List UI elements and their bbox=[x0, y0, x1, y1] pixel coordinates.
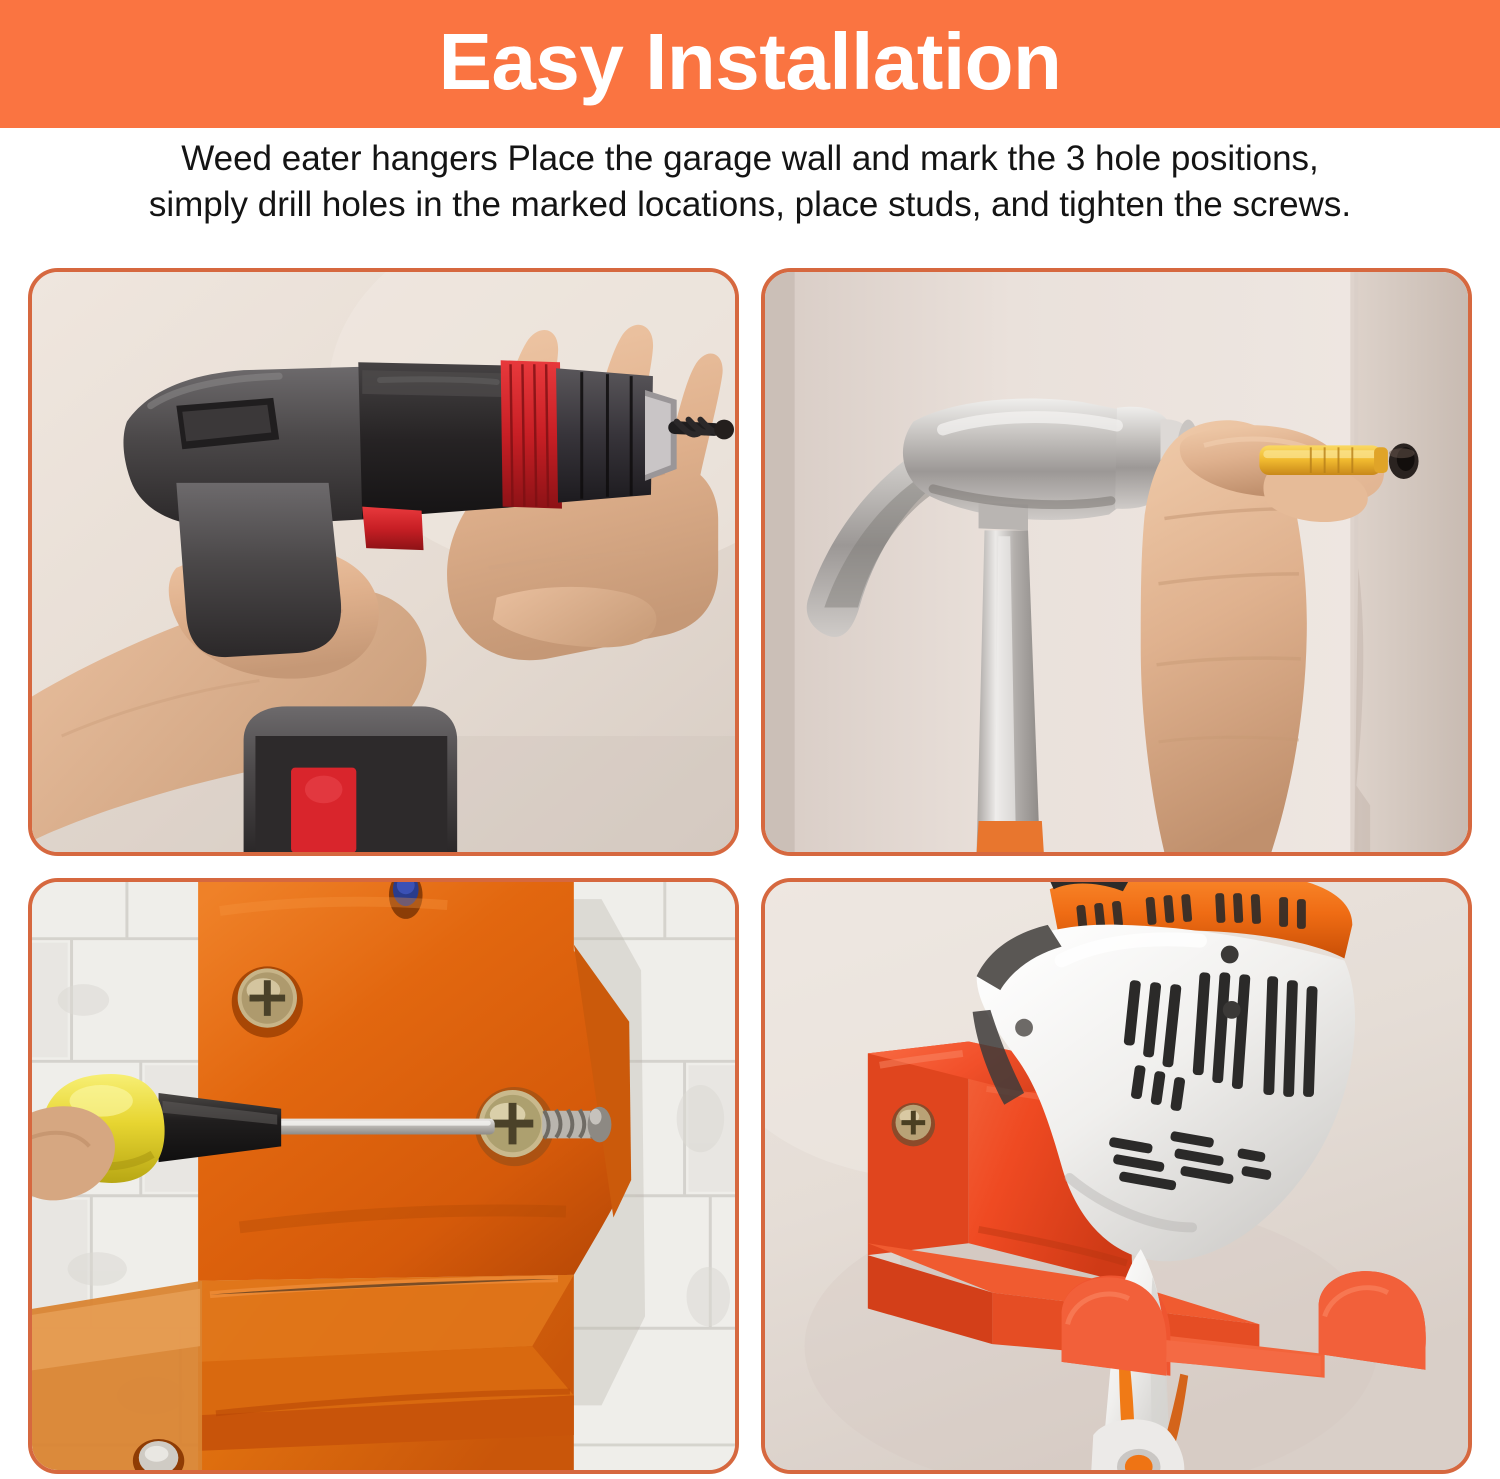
screw-thread bbox=[542, 1107, 611, 1143]
description-line-2: simply drill holes in the marked locatio… bbox=[30, 182, 1470, 228]
trimmer-on-hanger-illustration bbox=[765, 882, 1468, 1470]
step-photo-hammer-anchor bbox=[761, 268, 1472, 856]
step-photo-screw-bracket bbox=[28, 878, 739, 1474]
header-banner: Easy Installation bbox=[0, 0, 1500, 128]
description-text: Weed eater hangers Place the garage wall… bbox=[0, 136, 1500, 228]
hammer-and-anchor-illustration bbox=[765, 272, 1468, 852]
screw-bracket-illustration bbox=[32, 882, 735, 1470]
step-photo-drill bbox=[28, 268, 739, 856]
installation-steps-grid bbox=[28, 268, 1472, 1474]
page-title: Easy Installation bbox=[439, 22, 1062, 102]
mounted-screw-top bbox=[232, 966, 303, 1037]
step-photo-trimmer-mounted bbox=[761, 878, 1472, 1474]
drilled-hole bbox=[1389, 443, 1419, 479]
wall-anchor-plug bbox=[1259, 445, 1388, 475]
description-line-1: Weed eater hangers Place the garage wall… bbox=[30, 136, 1470, 182]
product-infographic: { "banner": { "title": "Easy Installatio… bbox=[0, 0, 1500, 1479]
bracket-mount-screw bbox=[892, 1103, 936, 1147]
drill-into-wall-illustration bbox=[32, 272, 735, 852]
